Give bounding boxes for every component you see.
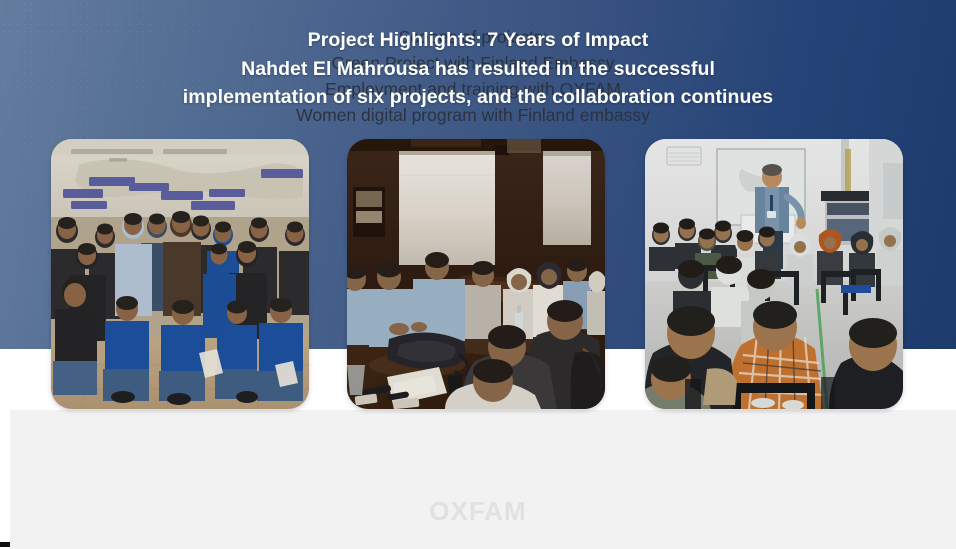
page-title: Project Highlights: 7 Years of Impact Na… (0, 26, 956, 112)
bottom-left-corner-marker (0, 542, 10, 547)
title-line-3: implementation of six projects, and the … (0, 83, 956, 112)
title-line-2: Nahdet El Mahrousa has resulted in the s… (0, 55, 956, 84)
meeting-room-discussion (347, 139, 605, 409)
title-line-1: Project Highlights: 7 Years of Impact (0, 26, 956, 55)
classroom-training-session-image (645, 139, 903, 409)
group-photo-factory-training-image (51, 139, 309, 409)
meeting-room-discussion-image (347, 139, 605, 409)
scopes-panel (10, 410, 956, 549)
slide-canvas: Project Highlights: 7 Years of Impact Na… (0, 0, 956, 549)
classroom-training-session (645, 139, 903, 409)
group-photo-factory-training (51, 139, 309, 409)
